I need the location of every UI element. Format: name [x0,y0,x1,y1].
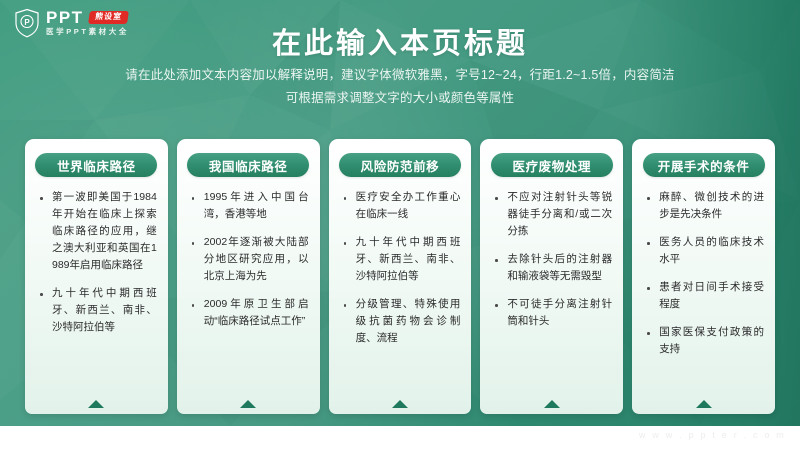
triangle-up-icon [240,400,256,408]
list-item: 去除针头后的注射器和输液袋等无需毁型 [492,251,612,285]
card-title-4: 医疗废物处理 [491,153,613,177]
triangle-up-icon [696,400,712,408]
page-title: 在此输入本页标题 [0,20,800,62]
card-row: 世界临床路径 第一波即美国于1984年开始在临床上探索临床路径的应用，继之澳大利… [25,139,775,414]
content-card-5[interactable]: 开展手术的条件 麻醉、微创技术的进步是先决条件 医务人员的临床技术水平 患者对日… [632,139,775,414]
page-subtitle-line-1: 请在此处添加文本内容加以解释说明，建议字体微软雅黑，字号12~24，行距1.2~… [0,64,800,87]
slide-canvas: P PPT 熊设室 医学PPT素材大全 在此输入本页标题 请在此处添加文本内容加… [0,0,800,450]
content-card-4[interactable]: 医疗废物处理 不应对注射针头等锐器徒手分离和/或二次分拣 去除针头后的注射器和输… [480,139,623,414]
card-title-1: 世界临床路径 [35,153,157,177]
card-bullet-list-2: 1995年进入中国台湾，香港等地 2002年逐渐被大陆部分地区研究应用，以北京上… [186,189,311,341]
list-item: 分级管理、特殊使用级抗菌药物会诊制度、流程 [341,296,461,347]
content-card-1[interactable]: 世界临床路径 第一波即美国于1984年开始在临床上探索临床路径的应用，继之澳大利… [25,139,168,414]
list-item: 麻醉、微创技术的进步是先决条件 [644,189,764,223]
list-item: 患者对日间手术接受程度 [644,279,764,313]
triangle-up-icon [88,400,104,408]
list-item: 医疗安全办工作重心在临床一线 [341,189,461,223]
triangle-up-icon [544,400,560,408]
list-item: 1995年进入中国台湾，香港等地 [189,189,309,223]
page-subtitle-line-2: 可根据需求调整文字的大小或颜色等属性 [0,87,800,110]
page-subtitle: 请在此处添加文本内容加以解释说明，建议字体微软雅黑，字号12~24，行距1.2~… [0,64,800,110]
content-card-2[interactable]: 我国临床路径 1995年进入中国台湾，香港等地 2002年逐渐被大陆部分地区研究… [177,139,320,414]
card-bullet-list-4: 不应对注射针头等锐器徒手分离和/或二次分拣 去除针头后的注射器和输液袋等无需毁型… [489,189,614,341]
list-item: 不可徒手分离注射针筒和针头 [492,296,612,330]
list-item: 2002年逐渐被大陆部分地区研究应用，以北京上海为先 [189,234,309,285]
list-item: 不应对注射针头等锐器徒手分离和/或二次分拣 [492,189,612,240]
card-title-5: 开展手术的条件 [643,153,765,177]
card-bullet-list-5: 麻醉、微创技术的进步是先决条件 医务人员的临床技术水平 患者对日间手术接受程度 … [641,189,766,369]
list-item: 国家医保支付政策的支持 [644,324,764,358]
content-card-3[interactable]: 风险防范前移 医疗安全办工作重心在临床一线 九十年代中期西班牙、新西兰、南非、沙… [329,139,472,414]
list-item: 九十年代中期西班牙、新西兰、南非、沙特阿拉伯等 [37,285,157,336]
site-watermark: w w w . p p t e r . c o m [639,430,786,440]
card-title-2: 我国临床路径 [187,153,309,177]
card-bullet-list-1: 第一波即美国于1984年开始在临床上探索临床路径的应用，继之澳大利亚和英国在19… [34,189,159,347]
list-item: 九十年代中期西班牙、新西兰、南非、沙特阿拉伯等 [341,234,461,285]
list-item: 第一波即美国于1984年开始在临床上探索临床路径的应用，继之澳大利亚和英国在19… [37,189,157,274]
card-title-3: 风险防范前移 [339,153,461,177]
list-item: 医务人员的临床技术水平 [644,234,764,268]
card-bullet-list-3: 医疗安全办工作重心在临床一线 九十年代中期西班牙、新西兰、南非、沙特阿拉伯等 分… [338,189,463,358]
list-item: 2009年原卫生部启动“临床路径试点工作” [189,296,309,330]
triangle-up-icon [392,400,408,408]
